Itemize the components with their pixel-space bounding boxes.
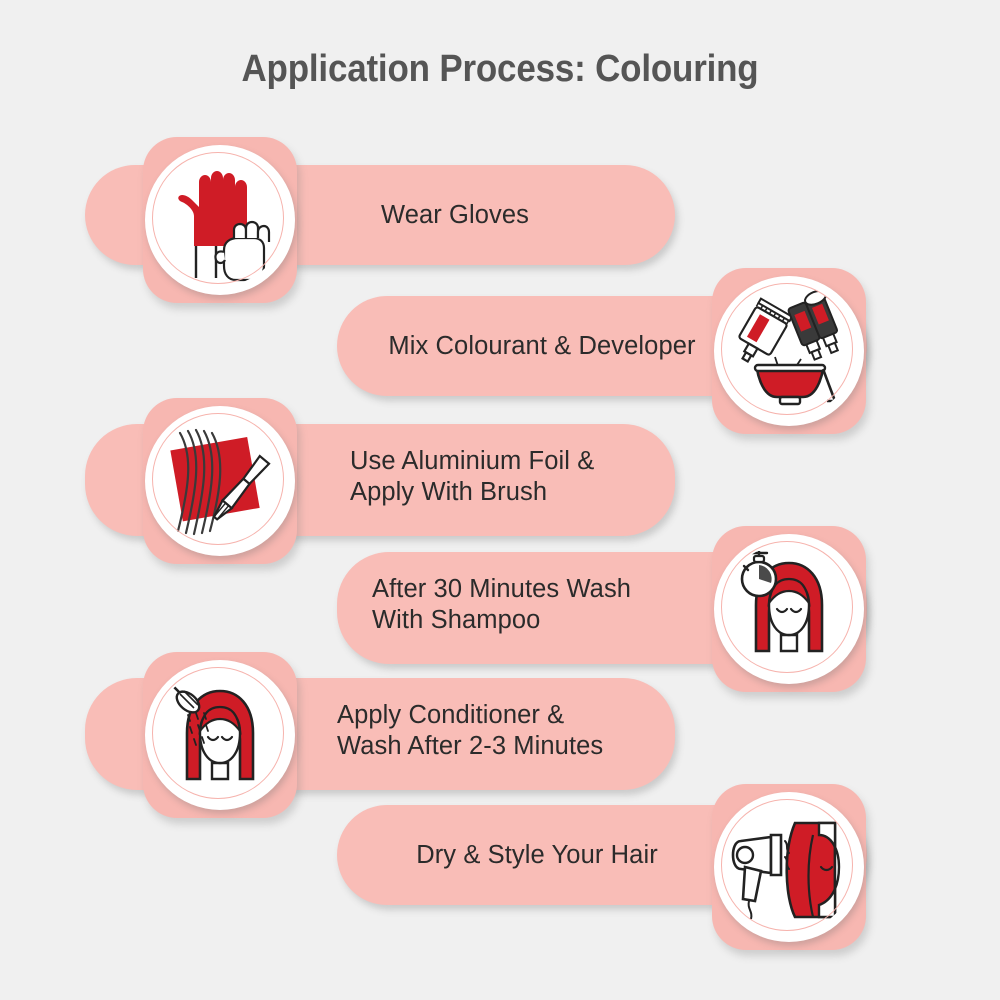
foil-and-brush-icon xyxy=(154,415,286,547)
step-row-6: Dry & Style Your Hair xyxy=(0,0,1000,200)
step-badge-6[interactable] xyxy=(700,778,878,956)
hairdryer-woman-icon xyxy=(723,801,855,933)
step-label-3: Use Aluminium Foil & Apply With Brush xyxy=(350,446,680,508)
step-badge-2[interactable] xyxy=(700,262,878,440)
step-label-1: Wear Gloves xyxy=(255,200,655,231)
step-label-6: Dry & Style Your Hair xyxy=(347,840,727,871)
step-badge-3[interactable] xyxy=(131,392,309,570)
tube-bottle-bowl-icon xyxy=(723,285,855,417)
infographic-canvas: Application Process: Colouring Wear Glov… xyxy=(0,0,1000,1000)
step-badge-4[interactable] xyxy=(700,520,878,698)
shower-woman-icon xyxy=(154,669,286,801)
step-label-4: After 30 Minutes Wash With Shampoo xyxy=(372,574,702,636)
step-badge-5[interactable] xyxy=(131,646,309,824)
step-label-5: Apply Conditioner & Wash After 2-3 Minut… xyxy=(337,700,687,762)
stopwatch-woman-icon xyxy=(723,543,855,675)
step-label-2: Mix Colourant & Developer xyxy=(347,331,737,362)
